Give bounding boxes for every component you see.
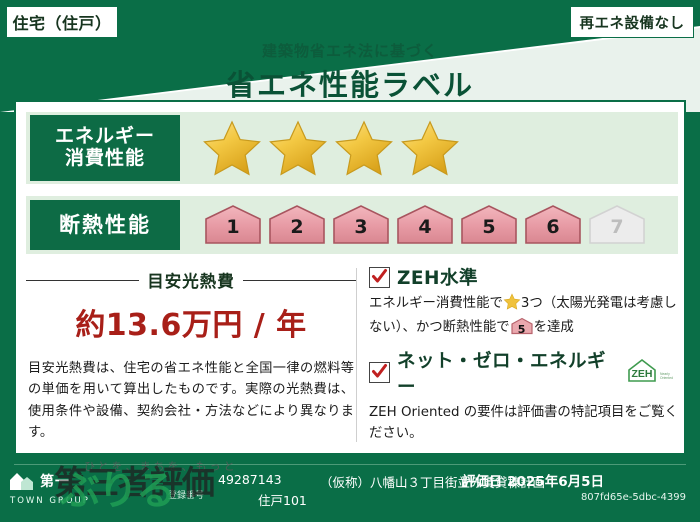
checkbox-checked-icon <box>369 267 390 288</box>
svg-text:ZEH: ZEH <box>632 368 653 380</box>
zeh-panel: ZEH水準 エネルギー消費性能で3つ（太陽光発電は考慮しない）、かつ断熱性能で5… <box>365 264 678 446</box>
badge-housing-type: 住宅（住戸） <box>6 6 118 38</box>
net-zero-body: ZEH Oriented の要件は評価書の特記項目をご覧ください。 <box>369 402 678 445</box>
energy-performance-row: エネルギー 消費性能 <box>26 112 678 184</box>
town-group-mark-icon <box>8 470 34 492</box>
insulation-level-badge: 2 <box>266 203 328 247</box>
utility-cost-heading: 目安光熱費 <box>26 268 356 292</box>
star-filled-icon <box>202 119 262 177</box>
footer-uid: 807fd65e-5dbc-4399 <box>581 492 686 503</box>
insulation-level-badge: 7 <box>586 203 648 247</box>
zeh-standard-body: エネルギー消費性能で3つ（太陽光発電は考慮しない）、かつ断熱性能で5を達成 <box>369 293 678 339</box>
footer-unit-number: 住戸101 <box>258 490 307 509</box>
zeh-standard-header: ZEH水準 <box>369 264 678 290</box>
checkbox-checked-icon-2 <box>369 362 390 383</box>
energy-performance-tag: エネルギー 消費性能 <box>30 115 180 181</box>
zeh-standard-title: ZEH水準 <box>397 264 478 290</box>
date-label: 評価日 <box>462 474 503 490</box>
vertical-divider <box>356 268 357 442</box>
insulation-level-scale: 1234567 <box>202 203 648 247</box>
insulation-level-badge: 4 <box>394 203 456 247</box>
inline-star-icon <box>503 293 521 317</box>
insulation-level-badge: 6 <box>522 203 584 247</box>
insulation-level-number: 2 <box>266 216 328 238</box>
star-filled-icon <box>334 119 394 177</box>
brand-mark-icon: 第一 <box>8 470 158 492</box>
star-filled-icon <box>400 119 460 177</box>
footer-evaluation-date: 評価日 2025年6月5日 <box>462 470 604 490</box>
zeh-logo-icon: ZEH Nearly Oriented <box>626 357 678 389</box>
rule-right <box>243 280 356 281</box>
insulation-level-number: 7 <box>586 216 648 238</box>
label-card: エネルギー 消費性能 断熱性能 1234567 目安光熱費 約13.6万円 / … <box>14 100 686 455</box>
inline-house-level-number: 5 <box>510 321 534 339</box>
insulation-level-badge: 5 <box>458 203 520 247</box>
star-filled-icon <box>268 119 328 177</box>
net-zero-header: ネット・ゼロ・エネルギー ZEH Nearly Oriented <box>369 347 678 399</box>
svg-text:Oriented: Oriented <box>660 376 673 380</box>
footer: 第一 TOWN GROUP 登録番号 49287143 （仮称）八幡山３丁目街並… <box>0 462 700 522</box>
insulation-level-number: 6 <box>522 216 584 238</box>
badge-renewable-equipment: 再エネ設備なし <box>570 6 694 38</box>
footer-id-value: 49287143 <box>218 472 282 487</box>
insulation-level-number: 3 <box>330 216 392 238</box>
net-zero-title: ネット・ゼロ・エネルギー <box>397 347 617 399</box>
zeh-body-part-c: を達成 <box>534 320 574 335</box>
insulation-performance-tag: 断熱性能 <box>30 200 180 250</box>
footer-divider <box>14 464 686 465</box>
insulation-level-badge: 3 <box>330 203 392 247</box>
zeh-standard-item: ZEH水準 エネルギー消費性能で3つ（太陽光発電は考慮しない）、かつ断熱性能で5… <box>369 264 678 339</box>
brand-logo: 第一 TOWN GROUP <box>8 470 158 506</box>
title-subtitle: 建築物省エネ法に基づく <box>0 40 700 61</box>
utility-cost-label: 目安光熱費 <box>147 268 235 292</box>
inline-house-level-icon: 5 <box>510 317 534 335</box>
zeh-body-part-a: エネルギー消費性能で <box>369 296 503 311</box>
insulation-level-badge: 1 <box>202 203 264 247</box>
utility-cost-note: 目安光熱費は、住宅の省エネ性能と全国一律の燃料等の単価を用いて算出したものです。… <box>26 358 356 444</box>
footer-id-label: 登録番号 <box>168 488 204 501</box>
energy-tag-line2: 消費性能 <box>65 148 145 170</box>
title-block: 建築物省エネ法に基づく 省エネ性能ラベル <box>0 40 700 104</box>
energy-performance-label: 住宅（住戸） 再エネ設備なし 建築物省エネ法に基づく 省エネ性能ラベル エネルギ… <box>0 0 700 522</box>
insulation-performance-row: 断熱性能 1234567 <box>26 196 678 254</box>
insulation-level-number: 5 <box>458 216 520 238</box>
brand-subtitle: TOWN GROUP <box>10 496 158 506</box>
net-zero-energy-item: ネット・ゼロ・エネルギー ZEH Nearly Oriented ZEH Ori… <box>369 347 678 445</box>
energy-tag-line1: エネルギー <box>55 126 155 148</box>
utility-cost-value: 約13.6万円 / 年 <box>26 300 356 344</box>
lower-section: 目安光熱費 約13.6万円 / 年 目安光熱費は、住宅の省エネ性能と全国一律の燃… <box>26 264 678 446</box>
date-value: 2025年6月5日 <box>507 474 604 490</box>
star-rating <box>202 119 460 177</box>
brand-name: 第一 <box>40 471 70 491</box>
insulation-level-number: 1 <box>202 216 264 238</box>
utility-cost-panel: 目安光熱費 約13.6万円 / 年 目安光熱費は、住宅の省エネ性能と全国一律の燃… <box>26 264 356 446</box>
insulation-level-number: 4 <box>394 216 456 238</box>
page-title: 省エネ性能ラベル <box>0 62 700 104</box>
rule-left <box>26 280 139 281</box>
